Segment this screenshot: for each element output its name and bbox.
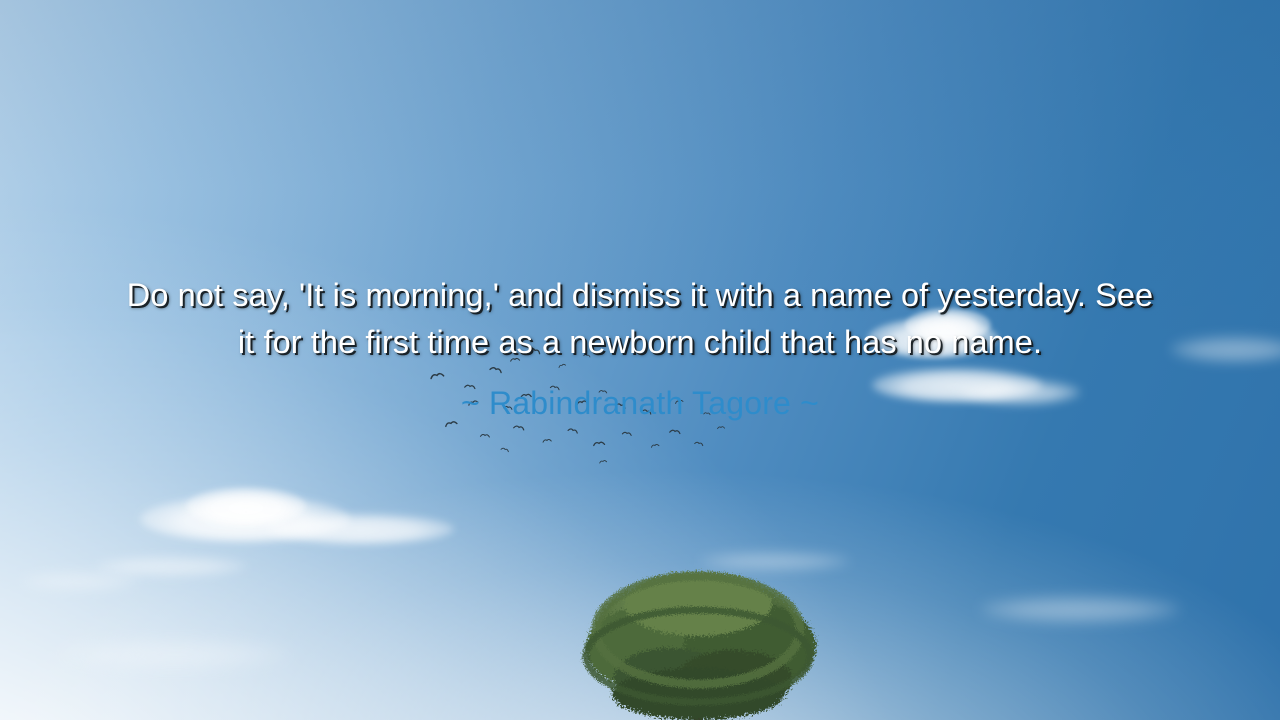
quote-card-canvas: Do not say, 'It is morning,' and dismiss…: [0, 0, 1280, 720]
quote-attribution: ~ Rabindranath Tagore ~: [120, 382, 1160, 424]
quote-text: Do not say, 'It is morning,' and dismiss…: [120, 272, 1160, 366]
quote-block: Do not say, 'It is morning,' and dismiss…: [0, 272, 1280, 424]
